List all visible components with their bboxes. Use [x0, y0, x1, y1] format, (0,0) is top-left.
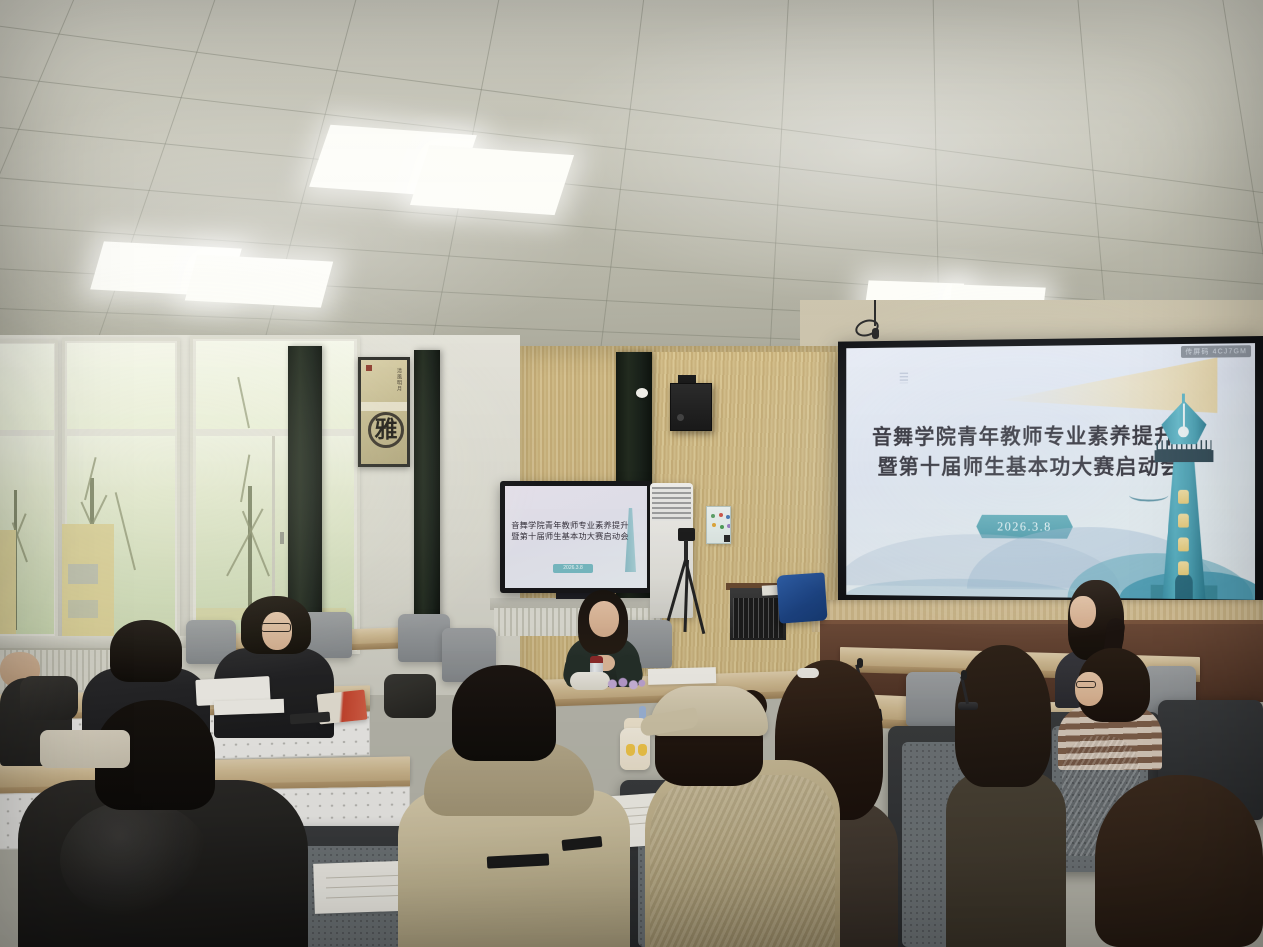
scroll-tie	[361, 402, 407, 411]
slide-title-line1: 音舞学院青年教师专业素养提升	[872, 424, 1177, 449]
scroll-character: 雅	[361, 415, 407, 445]
pen-nib-slit	[1183, 403, 1185, 429]
lighthouse-window	[1178, 537, 1189, 551]
wall-calligraphy-scroll: 清風明月 雅	[358, 357, 410, 467]
photo-scene: 清風明月 雅 音舞学院青年教师专业素养提升 暨第十届师生基本功大赛启动会 202…	[0, 0, 1263, 947]
student-dark-coat-head	[110, 620, 182, 682]
duck-graphic	[638, 744, 647, 756]
woman-striped-sweater-face	[1075, 672, 1103, 706]
lighthouse-door	[1175, 573, 1193, 599]
presenter-face	[589, 601, 619, 637]
glasses-icon	[1076, 681, 1096, 688]
blue-equipment-cover	[776, 572, 827, 623]
tote-bag	[40, 730, 130, 768]
lighthouse-illustration	[1137, 394, 1231, 599]
seal-stamp	[366, 365, 372, 371]
woman-long-hair	[955, 645, 1051, 787]
equipment-cart-grill	[733, 598, 783, 638]
notebook-paper	[214, 699, 284, 715]
air-conditioner-grill	[652, 487, 691, 521]
lighthouse-window	[1178, 561, 1189, 575]
glasses-icon	[261, 623, 291, 632]
hair-clip	[797, 668, 819, 678]
attendee-foreground-right-head	[1095, 775, 1263, 947]
security-camera	[636, 388, 648, 398]
student-beige-jacket-head	[452, 665, 556, 761]
tv-title-line2: 暨第十届师生基本功大赛启动会	[511, 532, 628, 541]
flower-arrangement	[604, 676, 646, 692]
ceiling-light-panel	[410, 145, 574, 215]
lighthouse-tip	[1182, 394, 1185, 404]
gooseneck-mic-head	[961, 670, 967, 680]
safety-notice-poster	[706, 506, 731, 544]
thermos-lid	[590, 656, 603, 663]
wall-mounted-tv[interactable]: 音舞学院青年教师专业素养提升 暨第十届师生基本功大赛启动会 2026.3.8	[500, 481, 652, 593]
slide-corner-mark	[900, 373, 908, 384]
duck-graphic	[626, 744, 635, 756]
backpack	[384, 674, 436, 718]
lighthouse-gallery	[1155, 450, 1214, 462]
gooseneck-mic-head	[857, 658, 863, 668]
wall-speaker	[670, 383, 712, 431]
scroll-side-text: 清風明月	[395, 368, 402, 392]
window-left-1	[0, 340, 58, 640]
cast-code-label: 传屏码 4CJ7GM	[1181, 345, 1251, 358]
ceiling-light-panel	[185, 254, 333, 307]
woman-long-hair-body	[946, 770, 1066, 947]
presenter-papers	[648, 667, 716, 685]
woman-beige-cap-knit-texture	[650, 775, 835, 947]
woman-ponytail-face	[1070, 596, 1096, 628]
jacket-sheen	[60, 800, 210, 920]
ceiling-microphone	[872, 328, 879, 339]
window-left-2	[62, 338, 180, 650]
lighthouse-window	[1178, 514, 1189, 528]
chair[interactable]	[906, 672, 962, 726]
backpack	[20, 676, 78, 720]
main-projection-screen[interactable]: 音舞学院青年教师专业素养提升 暨第十届师生基本功大赛启动会 2026.3.8	[838, 336, 1263, 608]
tv-date-badge: 2026.3.8	[553, 564, 593, 573]
curtain-center	[414, 350, 440, 640]
pen-nib-vent-hole	[1178, 426, 1189, 437]
tv-title-line1: 音舞学院青年教师专业素养提升	[511, 521, 628, 530]
lighthouse-window	[1178, 490, 1189, 504]
tv-slide-title: 音舞学院青年教师专业素养提升 暨第十届师生基本功大赛启动会	[511, 520, 629, 542]
